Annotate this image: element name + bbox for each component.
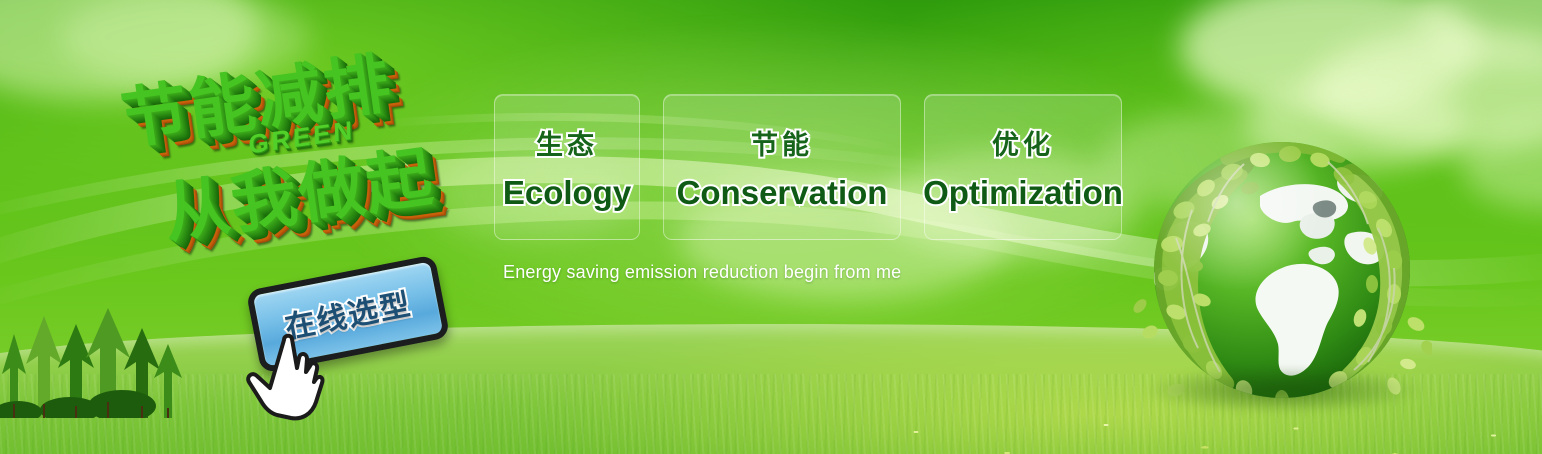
feature-card-conservation[interactable]: 节能 Conservation	[663, 94, 901, 240]
feature-card-en-label: Conservation	[677, 174, 888, 212]
globe-shadow	[1142, 366, 1424, 414]
hand-pointer-icon	[244, 330, 330, 422]
hero-title: 节能减排 GREEN 从我做起	[98, 38, 498, 268]
feature-card-cn-label: 节能	[751, 123, 813, 162]
eco-hero-banner: 节能减排 GREEN 从我做起 在线选型 生态 Ecology 节能 Conse…	[0, 0, 1542, 454]
feature-card-en-label: Ecology	[503, 174, 631, 212]
feature-card-list: 生态 Ecology 节能 Conservation 优化 Optimizati…	[494, 94, 1122, 240]
leaf-globe	[1132, 118, 1432, 418]
feature-card-en-label: Optimization	[923, 174, 1123, 212]
conifer-tree-row	[0, 308, 200, 418]
feature-card-cn-label: 生态	[536, 123, 598, 162]
feature-card-ecology[interactable]: 生态 Ecology	[494, 94, 640, 240]
tagline: Energy saving emission reduction begin f…	[503, 262, 901, 283]
feature-card-optimization[interactable]: 优化 Optimization	[924, 94, 1122, 240]
feature-card-cn-label: 优化	[992, 123, 1054, 162]
